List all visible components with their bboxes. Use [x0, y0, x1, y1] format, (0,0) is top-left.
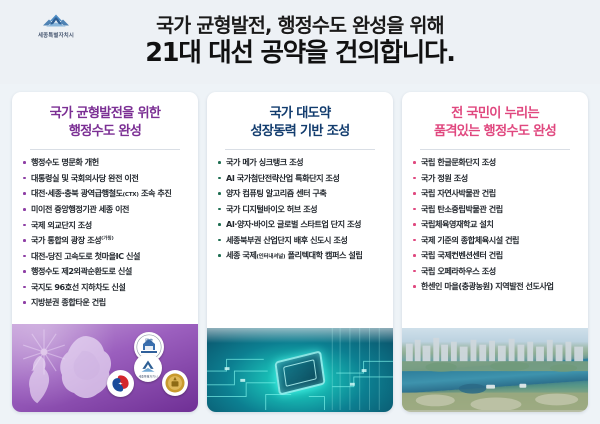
list-item: 국가 정원 조성 — [413, 173, 582, 183]
svg-text:세종특별자치시: 세종특별자치시 — [138, 373, 157, 378]
headline-line-1: 국가 균형발전, 행정수도 완성을 위해 — [0, 14, 600, 37]
list-item-text: 행정수도 제2외곽순환도로 신설 — [31, 266, 132, 276]
korea-government-emblem-icon — [107, 370, 134, 397]
gold-seal-emblem — [162, 370, 188, 396]
list-item-note: (인터내셔널) — [256, 254, 285, 260]
list-item: 국립 자연사박물관 건립 — [413, 188, 582, 198]
list-item-text: 국가 통합의 광장 조성 — [31, 235, 101, 245]
list-item-text: 국립체육영재학교 설치 — [421, 219, 493, 229]
list-item-text: 국립 탄소중립박물관 건립 — [421, 204, 503, 214]
card-header: 전 국민이 누리는 품격있는 행정수도 완성 — [402, 92, 588, 149]
headline-line-2: 21대 대선 공약을 건의합니다. — [0, 39, 600, 69]
list-item-text: 대통령실 및 국회의사당 완전 이전 — [31, 173, 138, 183]
list-item: 대통령실 및 국회의사당 완전 이전 — [23, 173, 192, 183]
list-item: 행정수도 제2외곽순환도로 신설 — [23, 266, 192, 276]
list-item-text: 대전-당진 고속도로 첫마을IC 신설 — [31, 251, 140, 261]
korea-map-outline-icon — [20, 354, 60, 406]
city-buildings-graphic — [402, 328, 588, 410]
purple-map-emblems-art: 國會 세종특별자치시 — [12, 324, 198, 412]
partner-emblems: 國會 세종특별자치시 — [104, 332, 190, 404]
card-title: 국가 균형발전을 위한 행정수도 완성 — [18, 105, 192, 140]
pledge-list-growth-engine: 국가 메가 싱크탱크 조성 AI 국가첨단전략산업 특화단지 조성 양자 컴퓨팅… — [207, 157, 393, 266]
list-item-text: 국가 정원 조성 — [421, 173, 468, 183]
list-item: 국립 오페라하우스 조성 — [413, 266, 582, 276]
list-item: 국지도 96호선 지하차도 신설 — [23, 282, 192, 292]
korea-government-emblem — [107, 370, 134, 397]
list-item: 세종 국제(인터내셔널) 폴리텍대학 캠퍼스 설립 — [218, 250, 387, 261]
list-item: AI 국가첨단전략산업 특화단지 조성 — [218, 173, 387, 183]
list-item: 대전·세종·충북 광역급행철도(CTX) 조속 추진 — [23, 188, 192, 199]
pledge-list-balanced-development: 행정수도 명문화 개헌 대통령실 및 국회의사당 완전 이전 대전·세종·충북 … — [12, 157, 198, 312]
card-title: 국가 대도약 성장동력 기반 조성 — [213, 105, 387, 140]
svg-text:國會: 國會 — [145, 337, 153, 343]
card-divider — [420, 149, 570, 150]
card-title: 전 국민이 누리는 품격있는 행정수도 완성 — [408, 105, 582, 140]
pledge-list-quality-capital: 국립 한글문화단지 조성 국가 정원 조성 국립 자연사박물관 건립 국립 탄소… — [402, 157, 588, 296]
sejong-city-emblem-icon: 세종특별자치시 — [134, 354, 162, 382]
list-item-text: 국제 기준의 종합체육시설 건립 — [421, 235, 519, 245]
sejong-city-emblem: 세종특별자치시 — [134, 354, 162, 382]
list-item: 국립 국제컨벤션센터 건립 — [413, 250, 582, 260]
pledge-columns: 국가 균형발전을 위한 행정수도 완성 행정수도 명문화 개헌 대통령실 및 국… — [12, 92, 588, 412]
list-item-note: (CTX) — [123, 192, 139, 198]
list-item: 국가 메가 싱크탱크 조성 — [218, 157, 387, 167]
gold-seal-emblem-icon — [162, 370, 188, 396]
list-item-text: 지방분권 종합타운 건립 — [31, 297, 106, 307]
list-item: 지방분권 종합타운 건립 — [23, 297, 192, 307]
list-item-text: 양자 컴퓨팅 알고리즘 센터 구축 — [226, 188, 326, 198]
list-item: 국립체육영재학교 설치 — [413, 219, 582, 229]
card-header: 국가 균형발전을 위한 행정수도 완성 — [12, 92, 198, 149]
list-item-text: 국가 디지털바이오 허브 조성 — [226, 204, 317, 214]
list-item: 행정수도 명문화 개헌 — [23, 157, 192, 167]
list-item: 국가 통합의 광장 조성(가칭) — [23, 235, 192, 245]
list-item-text: AI 국가첨단전략산업 특화단지 조성 — [226, 173, 339, 183]
list-item-tail: 조속 추진 — [139, 188, 172, 198]
list-item-text: AI·양자·바이오 글로벌 스타트업 단지 조성 — [226, 219, 361, 229]
list-item: AI·양자·바이오 글로벌 스타트업 단지 조성 — [218, 219, 387, 229]
list-item: 한센인 마을(충광농원) 지역발전 선도사업 — [413, 281, 582, 291]
list-item-text: 세종북부권 산업단지 배후 신도시 조성 — [226, 235, 347, 245]
list-item-text: 대전·세종·충북 광역급행철도 — [31, 188, 123, 198]
pledge-card-quality-capital: 전 국민이 누리는 품격있는 행정수도 완성 국립 한글문화단지 조성 국가 정… — [402, 92, 588, 412]
semiconductor-chip-photo — [207, 328, 393, 412]
list-item-text: 국립 한글문화단지 조성 — [421, 157, 496, 167]
poster-header: 세종특별자치시 국가 균형발전, 행정수도 완성을 위해 21대 대선 공약을 … — [0, 0, 600, 84]
pledge-card-balanced-development: 국가 균형발전을 위한 행정수도 완성 행정수도 명문화 개헌 대통령실 및 국… — [12, 92, 198, 412]
card-divider — [225, 149, 375, 150]
list-item: 국제 외교단지 조성 — [23, 220, 192, 230]
list-item-text: 국제 외교단지 조성 — [31, 220, 92, 230]
card-divider — [30, 149, 180, 150]
poster-root: 세종특별자치시 국가 균형발전, 행정수도 완성을 위해 21대 대선 공약을 … — [0, 0, 600, 424]
list-item: 국가 디지털바이오 허브 조성 — [218, 204, 387, 214]
list-item: 세종북부권 산업단지 배후 신도시 조성 — [218, 235, 387, 245]
list-item-text: 국지도 96호선 지하차도 신설 — [31, 282, 125, 292]
list-item: 국제 기준의 종합체육시설 건립 — [413, 235, 582, 245]
list-item-text: 한센인 마을(충광농원) 지역발전 선도사업 — [421, 281, 554, 291]
list-item-text: 행정수도 명문화 개헌 — [31, 157, 99, 167]
list-item-text: 국립 국제컨벤션센터 건립 — [421, 250, 503, 260]
pledge-card-growth-engine: 국가 대도약 성장동력 기반 조성 국가 메가 싱크탱크 조성 AI 국가첨단전… — [207, 92, 393, 412]
list-item-text: 국립 자연사박물관 건립 — [421, 188, 496, 198]
card-header: 국가 대도약 성장동력 기반 조성 — [207, 92, 393, 149]
list-item-superscript: (가칭) — [101, 237, 114, 242]
list-item-text: 국립 오페라하우스 조성 — [421, 266, 496, 276]
headline-block: 국가 균형발전, 행정수도 완성을 위해 21대 대선 공약을 건의합니다. — [0, 14, 600, 69]
list-item-tail: 폴리텍대학 캠퍼스 설립 — [285, 250, 362, 260]
list-item: 국립 탄소중립박물관 건립 — [413, 204, 582, 214]
sejong-aerial-city-photo — [402, 328, 588, 412]
list-item-text: 국가 메가 싱크탱크 조성 — [226, 157, 303, 167]
list-item-text: 세종 국제 — [226, 250, 256, 260]
list-item: 양자 컴퓨팅 알고리즘 센터 구축 — [218, 188, 387, 198]
list-item: 대전-당진 고속도로 첫마을IC 신설 — [23, 251, 192, 261]
list-item: 국립 한글문화단지 조성 — [413, 157, 582, 167]
list-item-text: 미이전 중앙행정기관 세종 이전 — [31, 204, 129, 214]
list-item: 미이전 중앙행정기관 세종 이전 — [23, 204, 192, 214]
